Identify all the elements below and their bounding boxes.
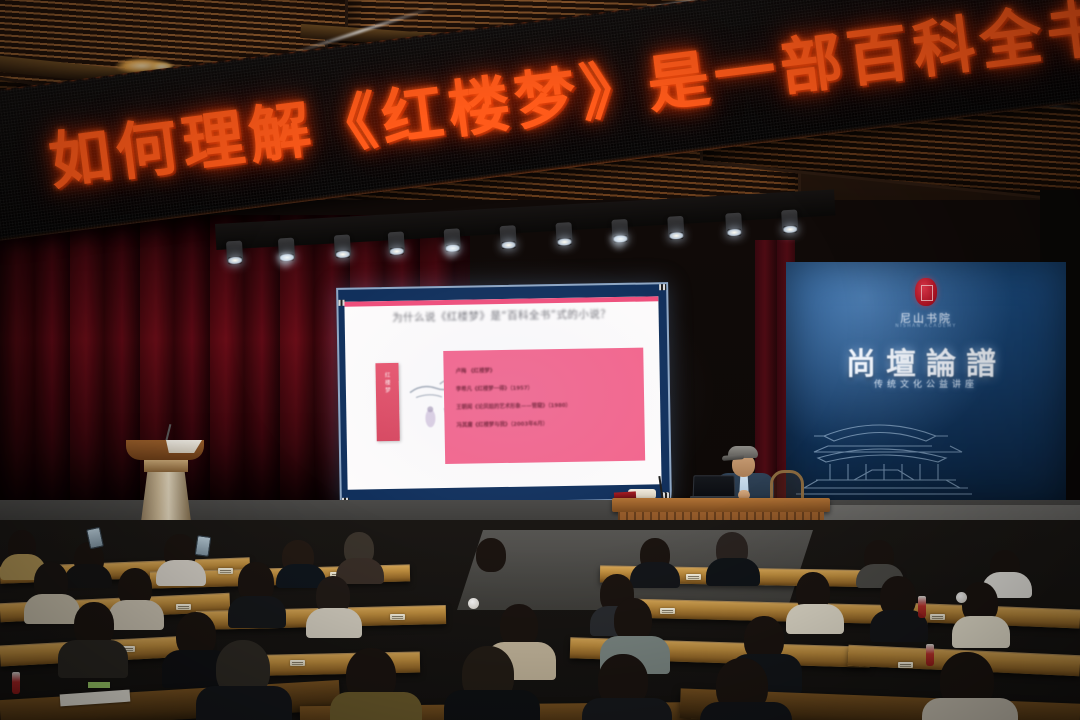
seat-number-tag: [686, 574, 701, 580]
seal-emblem-icon: [915, 278, 937, 306]
audience-seating-area: [0, 520, 1080, 720]
projection-screen: 为什么说《红楼梦》是“百科全书”式的小说？ 红楼梦 卢梅 《红楼梦》 李希凡《红…: [336, 282, 672, 506]
backdrop-brand-subtitle: NISHAN ACADEMY: [786, 324, 1066, 329]
slide-bullet-item: 李希凡《红楼梦一得》（1957）: [456, 384, 636, 394]
smartphone-icon: [195, 535, 212, 557]
audience-torso: [706, 558, 760, 586]
spotlight-beam: [275, 254, 296, 271]
audience-torso: [108, 600, 164, 630]
audience-torso: [582, 698, 672, 720]
audience-torso: [700, 702, 792, 720]
slide-bullet-item: 王朝闻《论凤姐的艺术形象——管窥》（1980）: [456, 402, 636, 412]
paper-cup-icon: [956, 592, 967, 603]
slide-bullet-item: 卢梅 《红楼梦》: [456, 366, 636, 376]
speaker-podium: [120, 440, 208, 530]
audience-torso: [306, 608, 362, 638]
slide-bullet-item: 冯其庸《红楼梦与我》（2003年6月）: [456, 420, 636, 430]
audience-torso: [156, 560, 206, 586]
audience-head: [476, 538, 506, 572]
spotlight-beam: [441, 244, 462, 261]
spotlight-icon: [226, 241, 243, 264]
book-cover-title: 红楼梦: [383, 372, 391, 395]
audience-torso: [228, 596, 286, 628]
slide-book-cover-image: 红楼梦: [375, 363, 399, 441]
audience-torso: [64, 564, 112, 588]
spotlight-icon: [725, 213, 742, 236]
academy-hall-illustration: [794, 402, 974, 502]
water-bottle-icon: [12, 672, 20, 694]
spotlight-beam: [608, 235, 629, 252]
seat-number-tag: [660, 608, 675, 614]
smartphone-icon: [86, 527, 104, 549]
spotlight-icon: [334, 234, 351, 257]
presentation-slide: 为什么说《红楼梦》是“百科全书”式的小说？ 红楼梦 卢梅 《红楼梦》 李希凡《红…: [344, 296, 661, 489]
slide-bullet-list: 卢梅 《红楼梦》 李希凡《红楼梦一得》（1957） 王朝闻《论凤姐的艺术形象——…: [456, 366, 637, 441]
slide-highlight-box: 卢梅 《红楼梦》 李希凡《红楼梦一得》（1957） 王朝闻《论凤姐的艺术形象——…: [443, 348, 645, 464]
desk-top-surface: [612, 498, 830, 512]
seat-number-tag: [176, 604, 191, 610]
audience-torso: [196, 686, 292, 720]
desk-notepad: [88, 682, 110, 688]
seat-number-tag: [930, 614, 945, 620]
screen-corner-marker: [659, 284, 666, 290]
spotlight-icon: [555, 222, 572, 245]
audience-torso: [24, 594, 80, 624]
backdrop-subtitle: 传统文化公益讲座: [786, 377, 1066, 390]
paper-cup-icon: [468, 598, 479, 609]
audience-torso: [952, 616, 1010, 648]
audience-torso: [58, 640, 128, 678]
audience-torso: [444, 690, 540, 720]
water-bottle-icon: [926, 644, 934, 666]
seat-number-tag: [390, 614, 405, 620]
spotlight-icon: [667, 216, 684, 239]
audience-torso: [786, 604, 844, 634]
spotlight-icon: [500, 225, 517, 248]
audience-torso: [922, 698, 1018, 720]
water-bottle-icon: [918, 596, 926, 618]
podium-neck: [144, 460, 188, 472]
event-backdrop-banner: 尼山书院 NISHAN ACADEMY 尚壇論譜 传统文化公益讲座: [786, 262, 1066, 514]
lecture-hall-photo: 如何理解《红楼梦》是一部百科全书式的小说 主讲人：孙伟科 为什么说《红楼梦》是“…: [0, 0, 1080, 720]
seat-number-tag: [898, 662, 913, 668]
spotlight-icon: [781, 209, 798, 232]
spotlight-icon: [388, 231, 405, 254]
seat-number-tag: [218, 568, 233, 574]
seat-number-tag: [290, 660, 305, 666]
audience-torso: [630, 562, 680, 588]
slide-title: 为什么说《红楼梦》是“百科全书”式的小说？: [357, 306, 647, 326]
audience-torso: [330, 692, 422, 720]
